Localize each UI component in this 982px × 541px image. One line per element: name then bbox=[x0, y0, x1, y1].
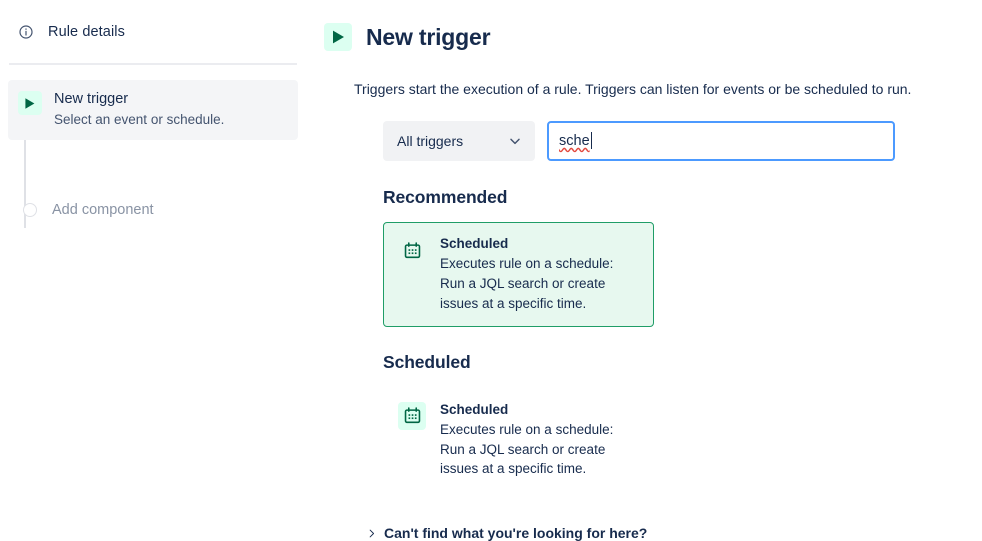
automation-rule-builder: Rule details New trigger Select an event… bbox=[0, 0, 982, 520]
trigger-card-title: Scheduled bbox=[440, 401, 626, 419]
panel-description: Triggers start the execution of a rule. … bbox=[354, 79, 982, 99]
section-scheduled: Scheduled Schedu bbox=[383, 352, 982, 493]
trigger-type-select[interactable]: All triggers bbox=[383, 121, 535, 161]
sidebar-item-new-trigger-subtitle: Select an event or schedule. bbox=[54, 110, 224, 129]
trigger-card-texts: Scheduled Executes rule on a schedule: R… bbox=[440, 401, 626, 479]
section-recommended-heading: Recommended bbox=[383, 187, 982, 208]
sidebar-item-rule-details-label: Rule details bbox=[48, 24, 125, 40]
trigger-search-box[interactable]: sche bbox=[547, 121, 895, 161]
trigger-card-description: Executes rule on a schedule: Run a JQL s… bbox=[440, 254, 626, 313]
cant-find-link[interactable]: Can't find what you're looking for here? bbox=[366, 525, 647, 541]
section-scheduled-heading: Scheduled bbox=[383, 352, 982, 373]
rule-flow: New trigger Select an event or schedule.… bbox=[0, 80, 306, 224]
calendar-icon bbox=[398, 236, 426, 264]
section-recommended: Recommended Sche bbox=[383, 187, 982, 328]
play-icon bbox=[324, 23, 352, 51]
calendar-icon bbox=[398, 402, 426, 430]
chevron-down-icon bbox=[507, 133, 523, 149]
rule-chain-sidebar: Rule details New trigger Select an event… bbox=[0, 0, 306, 520]
trigger-type-select-value: All triggers bbox=[397, 133, 463, 149]
cant-find-link-label: Can't find what you're looking for here? bbox=[384, 525, 647, 541]
trigger-card-scheduled-recommended[interactable]: Scheduled Executes rule on a schedule: R… bbox=[383, 222, 654, 327]
trigger-card-title: Scheduled bbox=[440, 235, 626, 253]
trigger-search-value: sche bbox=[559, 133, 590, 149]
sidebar-item-new-trigger-texts: New trigger Select an event or schedule. bbox=[54, 90, 224, 129]
sidebar-item-add-component-label: Add component bbox=[52, 202, 154, 218]
sidebar-item-new-trigger-title: New trigger bbox=[54, 90, 224, 109]
trigger-search-input[interactable]: sche bbox=[559, 132, 592, 149]
sidebar-divider bbox=[9, 63, 297, 65]
text-caret bbox=[591, 132, 593, 149]
trigger-card-texts: Scheduled Executes rule on a schedule: R… bbox=[440, 235, 626, 313]
trigger-card-scheduled[interactable]: Scheduled Executes rule on a schedule: R… bbox=[383, 388, 654, 493]
trigger-card-description: Executes rule on a schedule: Run a JQL s… bbox=[440, 420, 626, 479]
sidebar-item-rule-details[interactable]: Rule details bbox=[8, 10, 298, 54]
page-title: New trigger bbox=[366, 23, 490, 51]
sidebar-item-new-trigger[interactable]: New trigger Select an event or schedule. bbox=[8, 80, 298, 140]
info-circle-icon bbox=[18, 24, 34, 40]
chevron-right-icon bbox=[366, 527, 377, 540]
panel-header: New trigger bbox=[306, 0, 982, 67]
sidebar-item-add-component[interactable]: Add component bbox=[8, 196, 298, 224]
trigger-picker-panel: New trigger Triggers start the execution… bbox=[306, 0, 982, 520]
play-icon bbox=[18, 91, 42, 115]
empty-circle-icon bbox=[23, 203, 37, 217]
trigger-filter-row: All triggers sche bbox=[383, 121, 982, 161]
